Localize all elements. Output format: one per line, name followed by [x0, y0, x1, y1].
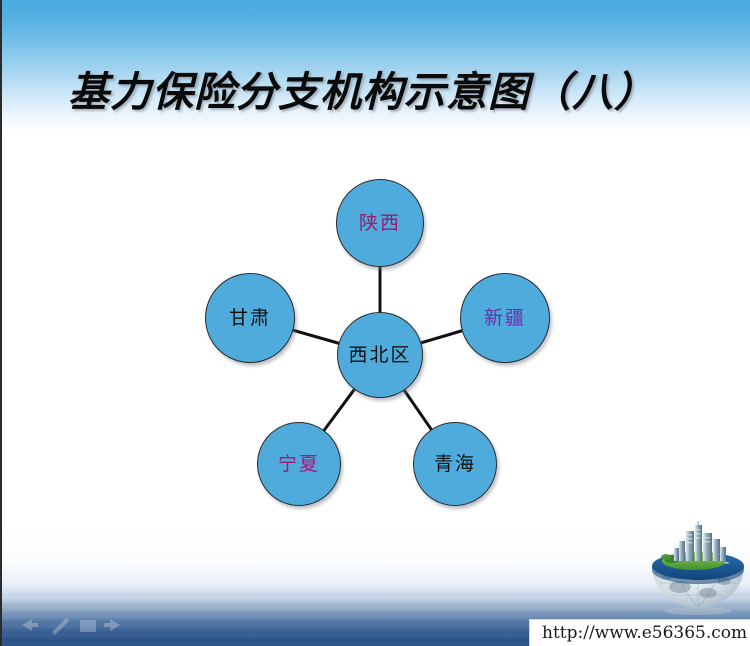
pen-icon[interactable]: [52, 618, 69, 635]
website-url-text: http://www.e56365.com: [530, 623, 747, 643]
branch-node-xinjiang[interactable]: 新疆: [460, 273, 550, 363]
node-label-qinghai: 青海: [434, 455, 476, 474]
connector-center-to-xinjiang: [420, 331, 463, 344]
branch-node-ningxia[interactable]: 宁夏: [257, 422, 341, 506]
branch-node-shaanxi[interactable]: 陕西: [336, 179, 424, 267]
node-label-center: 西北区: [348, 346, 411, 365]
node-label-shaanxi: 陕西: [359, 214, 401, 233]
website-url-bar[interactable]: http://www.e56365.com: [529, 619, 750, 646]
connector-center-to-qinghai: [404, 390, 432, 431]
center-node-center[interactable]: 西北区: [337, 312, 423, 398]
arrow-left-icon[interactable]: [22, 619, 38, 631]
branch-node-qinghai[interactable]: 青海: [413, 422, 497, 506]
node-label-xinjiang: 新疆: [484, 309, 526, 328]
menu-box-icon[interactable]: [80, 620, 96, 632]
node-label-gansu: 甘肃: [229, 309, 271, 328]
presentation-slide: 基力保险分支机构示意图（八） 西北区陕西甘肃新疆宁夏青海: [0, 0, 750, 646]
globe-city-logo-icon: [646, 521, 750, 617]
node-label-ningxia: 宁夏: [278, 455, 320, 474]
connector-center-to-gansu: [292, 330, 339, 344]
branch-node-gansu[interactable]: 甘肃: [205, 273, 295, 363]
connector-center-to-ningxia: [324, 389, 355, 431]
slideshow-controls[interactable]: [12, 614, 130, 636]
arrow-right-icon[interactable]: [104, 619, 120, 631]
